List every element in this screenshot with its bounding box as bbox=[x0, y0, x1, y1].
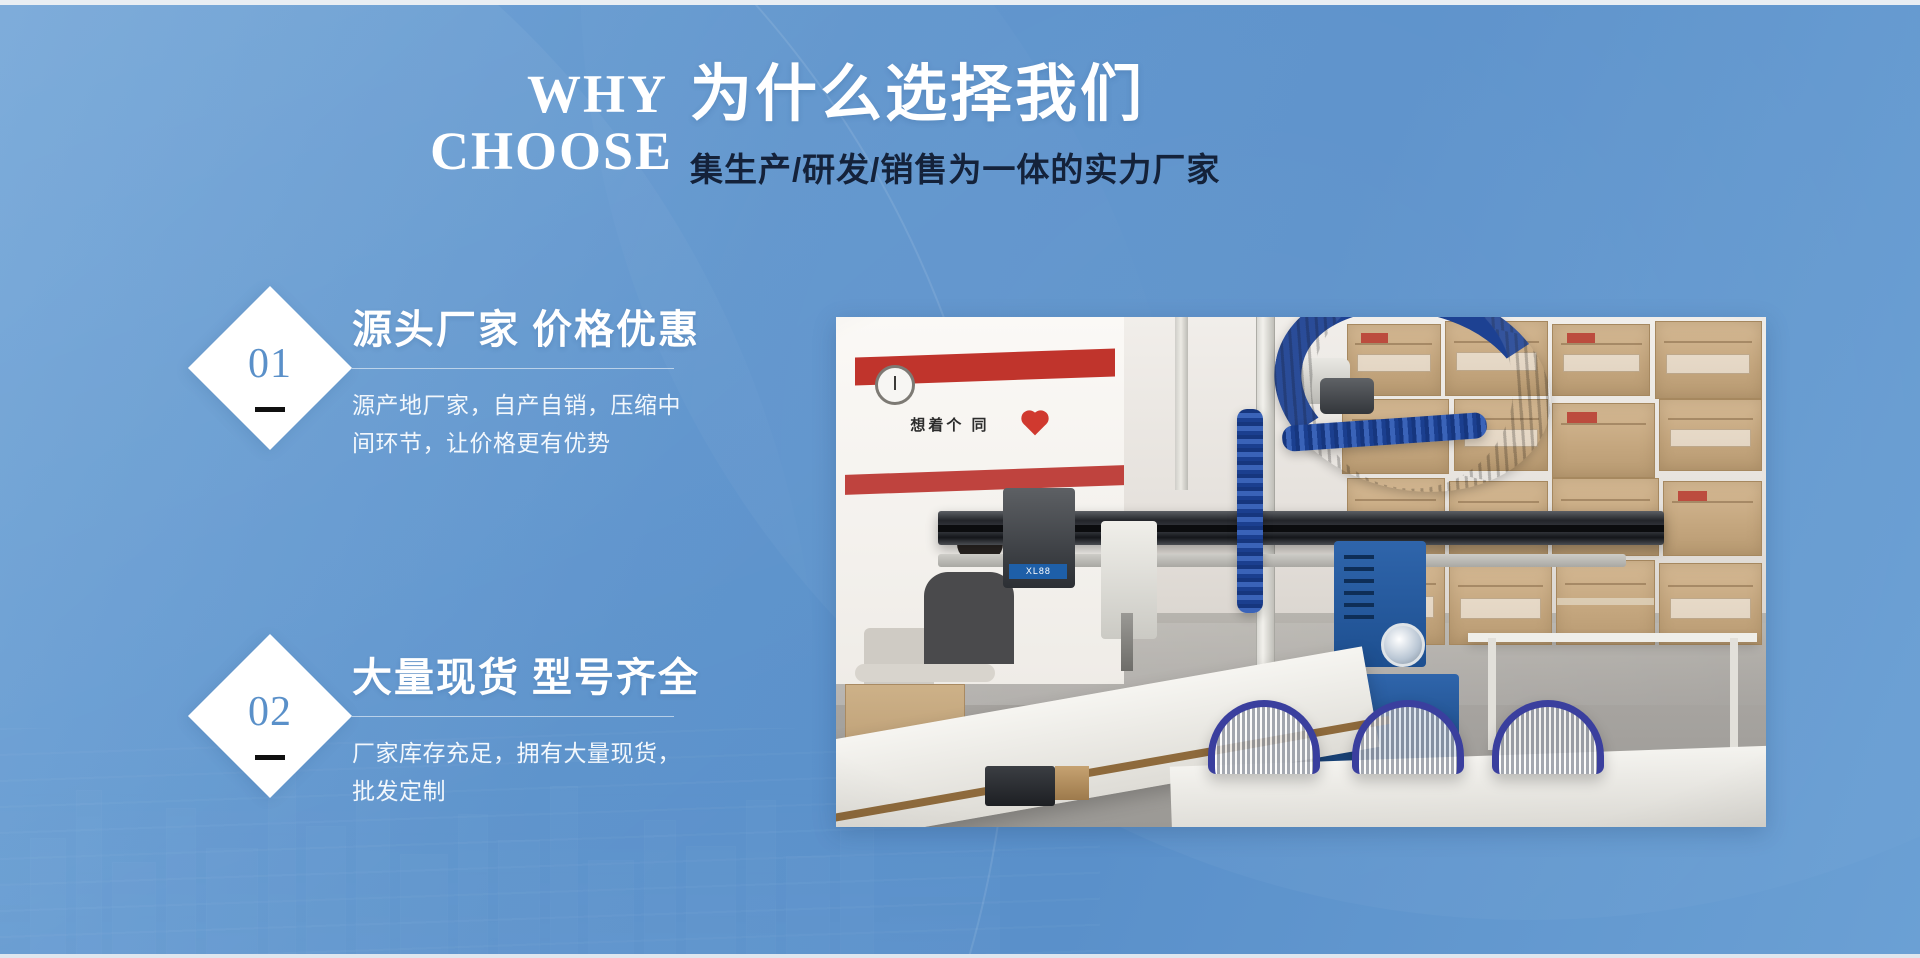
feature-item: 01 源头厂家 价格优惠 源产地厂家，自产自销，压缩中间环节，让价格更有优势 bbox=[212, 300, 732, 463]
dash-icon bbox=[255, 755, 285, 760]
photo-white-shelf bbox=[1468, 633, 1756, 642]
photo-panel-vents bbox=[1344, 555, 1374, 627]
why-choose-english: WHY CHOOSE bbox=[430, 62, 690, 179]
feature-title: 源头厂家 价格优惠 bbox=[352, 308, 732, 352]
feature-item: 02 大量现货 型号齐全 厂家库存充足，拥有大量现货，批发定制 bbox=[212, 648, 732, 811]
feature-text-block: 大量现货 型号齐全 厂家库存充足，拥有大量现货，批发定制 bbox=[328, 648, 732, 811]
page-title: 为什么选择我们 bbox=[690, 62, 1460, 129]
photo-gantry-carriage: XL88 bbox=[1003, 488, 1075, 588]
photo-machine-post bbox=[1175, 317, 1187, 490]
feature-description: 源产地厂家，自产自销，压缩中间环节，让价格更有优势 bbox=[352, 387, 692, 463]
bottom-edge-strip bbox=[0, 954, 1920, 958]
feature-divider bbox=[352, 716, 674, 717]
photo-content: 想着个 同 bbox=[836, 317, 1766, 827]
photo-shelf-leg bbox=[1488, 638, 1496, 750]
photo-person-body bbox=[924, 572, 1014, 664]
photo-nozzle bbox=[1121, 613, 1133, 671]
factory-workshop-photo: 想着个 同 bbox=[836, 317, 1766, 827]
machine-badge: XL88 bbox=[1009, 564, 1067, 579]
feature-number-diamond: 01 bbox=[212, 310, 328, 426]
choose-line: CHOOSE bbox=[430, 123, 668, 180]
carton bbox=[1552, 403, 1655, 478]
dash-icon bbox=[255, 407, 285, 412]
banner-stage: WHY CHOOSE 为什么选择我们 集生产/研发/销售为一体的实力厂家 01 … bbox=[0, 0, 1920, 958]
header-chinese-group: 为什么选择我们 集生产/研发/销售为一体的实力厂家 bbox=[690, 62, 1460, 191]
feature-divider bbox=[352, 368, 674, 369]
feature-title: 大量现货 型号齐全 bbox=[352, 656, 732, 700]
feature-text-block: 源头厂家 价格优惠 源产地厂家，自产自销，压缩中间环节，让价格更有优势 bbox=[328, 300, 732, 463]
feature-number-diamond: 02 bbox=[212, 658, 328, 774]
carton bbox=[1552, 324, 1650, 395]
feature-description: 厂家库存充足，拥有大量现货，批发定制 bbox=[352, 735, 692, 811]
photo-left-table bbox=[855, 664, 995, 682]
carton bbox=[1655, 321, 1762, 400]
top-edge-strip bbox=[0, 0, 1920, 5]
carton bbox=[1659, 399, 1762, 470]
photo-dial bbox=[1381, 623, 1425, 667]
photo-conveyor-block bbox=[985, 766, 1055, 806]
page-subtitle: 集生产/研发/销售为一体的实力厂家 bbox=[690, 143, 1460, 191]
photo-blue-hose-vertical bbox=[1237, 409, 1263, 613]
why-line: WHY bbox=[430, 66, 668, 123]
photo-conveyor-block-small bbox=[1055, 766, 1089, 800]
photo-shelf-leg bbox=[1730, 638, 1738, 750]
banner-header: WHY CHOOSE 为什么选择我们 集生产/研发/销售为一体的实力厂家 bbox=[0, 62, 1460, 191]
feature-list: 01 源头厂家 价格优惠 源产地厂家，自产自销，压缩中间环节，让价格更有优势 0… bbox=[212, 300, 732, 811]
carton bbox=[1663, 481, 1761, 556]
photo-wall-text: 想着个 同 bbox=[910, 414, 989, 435]
